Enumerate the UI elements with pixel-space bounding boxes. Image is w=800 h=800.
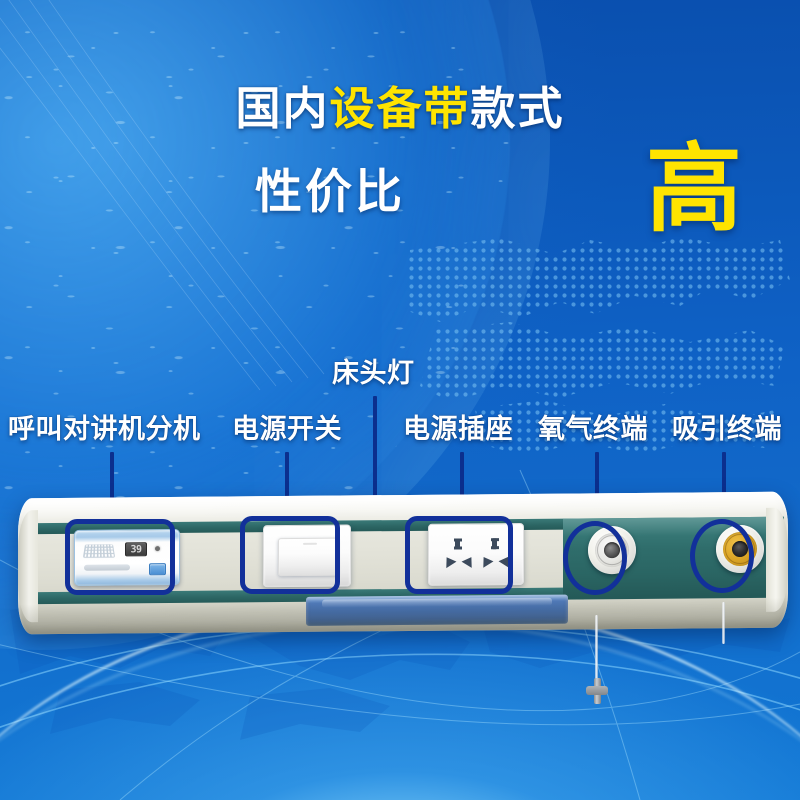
oxygen-terminal[interactable] [588,526,636,574]
bed-head-lamp[interactable] [306,595,568,626]
suction-terminal[interactable] [716,525,764,573]
socket-pin-left-icon [479,554,494,568]
socket-outlet-1[interactable] [441,538,477,572]
terminal-port-icon [732,541,748,557]
panel-end-cap-left [18,510,38,622]
power-switch[interactable] [263,524,351,587]
call-button[interactable] [149,563,166,575]
intercom-display: 39 [125,542,147,556]
socket-pin-earth-icon [455,539,460,550]
panel-body: 39 [18,492,788,635]
socket-pin-right-icon [499,554,514,568]
socket-pin-right-icon [462,554,477,568]
callout-label-oxygen-terminal: 氧气终端 [538,416,648,443]
callout-label-power-switch: 电源开关 [232,416,342,443]
power-socket[interactable] [428,523,524,586]
callout-layer: 呼叫对讲机分机 电源开关 床头灯 电源插座 氧气终端 吸引终端 [0,0,800,800]
status-led-icon [155,546,160,551]
socket-pin-left-icon [442,554,457,568]
speaker-grille-icon [83,544,115,558]
bed-head-unit: 39 [18,495,788,645]
callout-label-intercom: 呼叫对讲机分机 [8,416,201,443]
intercom-vent-slot [84,564,130,570]
terminal-port-icon [604,542,620,558]
panel-shell: 39 [18,492,788,635]
oxygen-hose [595,615,598,685]
product-banner: 国内设备带款式 性价比 高 呼叫对讲机分机 电源开关 床头灯 电源插座 氧气终端… [0,0,800,800]
panel-end-cap-right [766,508,788,612]
rocker-paddle[interactable] [278,538,338,577]
oxygen-hose-connector [586,678,608,704]
connector-crossbar [586,686,608,695]
socket-pin-earth-icon [492,538,497,549]
callout-label-suction-terminal: 吸引终端 [672,416,782,443]
callout-label-power-socket: 电源插座 [403,416,513,443]
nurse-call-intercom[interactable]: 39 [74,529,180,586]
socket-outlet-2[interactable] [478,538,514,572]
suction-hose [722,602,725,644]
callout-label-bed-lamp: 床头灯 [332,360,415,387]
